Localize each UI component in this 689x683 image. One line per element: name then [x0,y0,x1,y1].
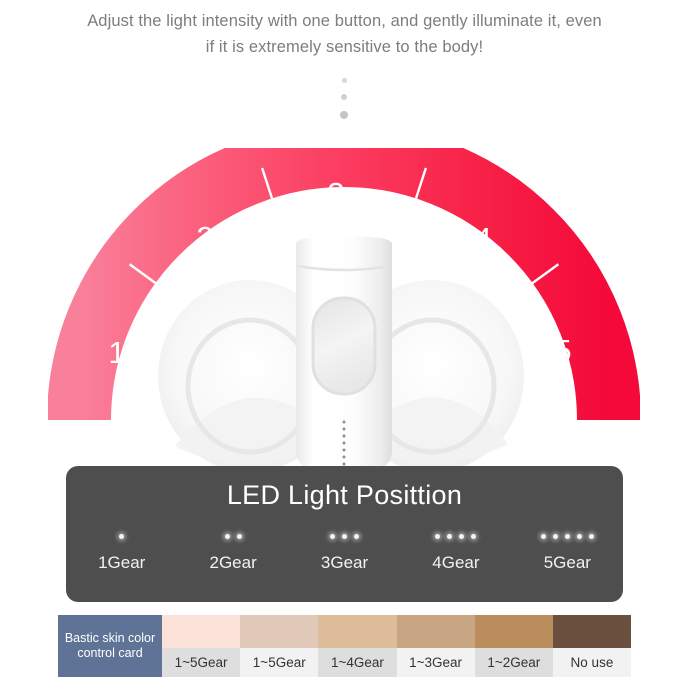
skin-column: 1~3Gear [397,615,475,677]
led-dot-icon [119,534,124,539]
led-dot-icon [330,534,335,539]
led-panel-title: LED Light Posittion [66,480,623,511]
skin-swatch [240,615,318,648]
indicator-dots [340,78,348,119]
skin-column: 1~4Gear [318,615,396,677]
skin-color-control-card: Bastic skin color control card 1~5Gear 1… [58,615,631,677]
gauge-label-4: 4 [474,221,491,256]
led-dot-icon [237,534,242,539]
intensity-gauge: 1 2 3 4 5 [48,148,640,448]
skin-card-title: Bastic skin color control card [58,615,162,677]
skin-column: 1~2Gear [475,615,553,677]
skin-gear-range: 1~2Gear [475,648,553,677]
led-light-position-panel: LED Light Posittion 1Gear 2Gear 3Gear [66,466,623,602]
led-dot-icon [447,534,452,539]
led-dot-row [435,528,476,544]
led-dot-row [225,528,242,544]
led-gear-label: 1Gear [98,553,145,573]
gauge-label-3: 3 [327,176,344,211]
led-dot-icon [225,534,230,539]
gauge-label-2: 2 [196,220,213,255]
led-gear-column: 2Gear [177,528,288,573]
indicator-dot-icon [342,78,347,83]
led-gear-label: 4Gear [432,553,479,573]
led-dot-row [541,528,594,544]
skin-gear-range: 1~3Gear [397,648,475,677]
indicator-dot-icon [341,94,347,100]
skin-gear-range: 1~5Gear [240,648,318,677]
skin-swatch [475,615,553,648]
led-dot-row [330,528,359,544]
led-dot-row [119,528,124,544]
skin-swatch [397,615,475,648]
skin-card-title-line-2: control card [77,646,142,660]
skin-gear-range: 1~5Gear [162,648,240,677]
led-dot-icon [553,534,558,539]
led-gear-columns: 1Gear 2Gear 3Gear 4Gear [66,528,623,573]
led-dot-icon [435,534,440,539]
led-gear-label: 3Gear [321,553,368,573]
skin-swatch [553,615,631,648]
gauge-label-1: 1 [108,335,125,370]
led-gear-column: 3Gear [289,528,400,573]
led-gear-column: 5Gear [512,528,623,573]
skin-column: No use [553,615,631,677]
skin-column: 1~5Gear [240,615,318,677]
led-dot-icon [541,534,546,539]
led-gear-label: 2Gear [209,553,256,573]
skin-card-title-line-1: Bastic skin color [65,631,155,645]
skin-column: 1~5Gear [162,615,240,677]
led-dot-icon [471,534,476,539]
led-dot-icon [354,534,359,539]
headline-line-2: if it is extremely sensitive to the body… [206,38,483,56]
headline-line-1: Adjust the light intensity with one butt… [87,12,602,30]
led-gear-label: 5Gear [544,553,591,573]
led-dot-icon [589,534,594,539]
led-gear-column: 1Gear [66,528,177,573]
page-title: Adjust the light intensity with one butt… [0,8,689,60]
led-dot-icon [577,534,582,539]
skin-gear-range: 1~4Gear [318,648,396,677]
skin-swatch [162,615,240,648]
led-dot-icon [459,534,464,539]
led-gear-column: 4Gear [400,528,511,573]
skin-swatch [318,615,396,648]
gauge-label-5: 5 [554,333,571,368]
skin-gear-range: No use [553,648,631,677]
led-dot-icon [565,534,570,539]
led-dot-icon [342,534,347,539]
indicator-dot-icon [340,111,348,119]
